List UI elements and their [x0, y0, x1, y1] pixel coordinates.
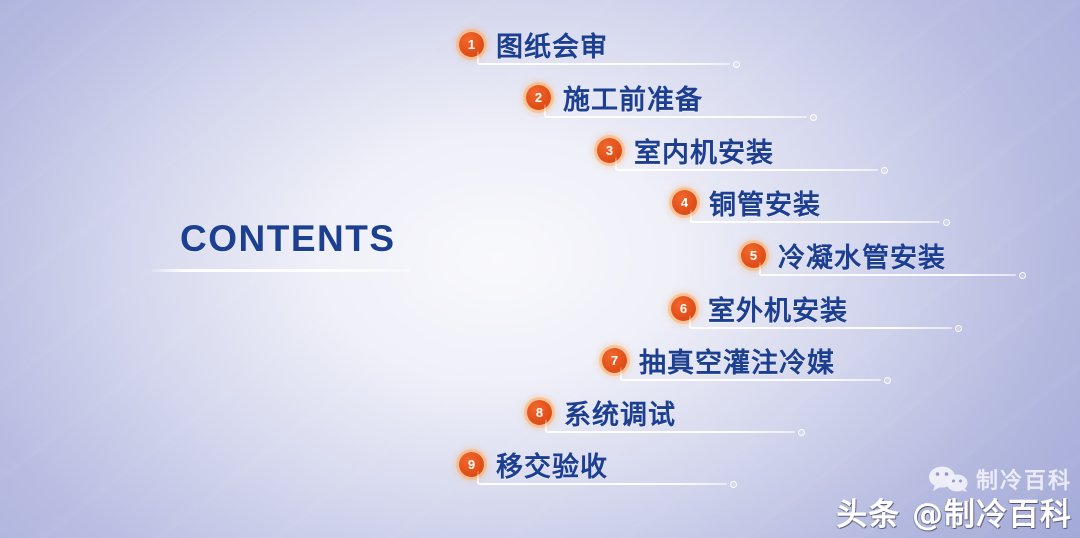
toc-item-label: 室内机安装: [634, 131, 774, 170]
toc-item-8[interactable]: 8 系统调试: [527, 393, 676, 432]
toc-item-label: 冷凝水管安装: [778, 236, 946, 275]
toc-number-badge: 3: [597, 138, 622, 163]
toc-item-1[interactable]: 1 图纸会审: [459, 25, 608, 64]
toc-number-badge: 9: [459, 452, 484, 477]
connector-end-dot: [798, 429, 805, 436]
toc-item-label: 图纸会审: [496, 25, 608, 64]
connector-end-dot: [955, 325, 962, 332]
connector-end-dot: [730, 481, 737, 488]
connector-end-dot: [884, 377, 891, 384]
toc-item-label: 系统调试: [564, 393, 676, 432]
slide-canvas: CONTENTS 1 图纸会审 2 施工前准备 3 室内机安装 4: [0, 0, 1080, 538]
toc-item-2[interactable]: 2 施工前准备: [526, 78, 703, 117]
toc-number-badge: 1: [459, 32, 484, 57]
toc-item-5[interactable]: 5 冷凝水管安装: [741, 236, 946, 275]
connector-end-dot: [733, 61, 740, 68]
toc-item-label: 室外机安装: [708, 289, 848, 328]
toc-item-label: 移交验收: [496, 445, 608, 484]
connector-end-dot: [943, 219, 950, 226]
toc-item-9[interactable]: 9 移交验收: [459, 445, 608, 484]
watermark: 制冷百科 头条 @制冷百科: [836, 463, 1072, 534]
toc-number-badge: 8: [527, 400, 552, 425]
toc-item-3[interactable]: 3 室内机安装: [597, 131, 774, 170]
connector-end-dot: [810, 114, 817, 121]
connector-end-dot: [1019, 272, 1026, 279]
watermark-handle: 头条 @制冷百科: [836, 489, 1072, 534]
watermark-brand-row: 制冷百科: [836, 463, 1072, 495]
toc-item-6[interactable]: 6 室外机安装: [671, 289, 848, 328]
toc-number-badge: 6: [671, 296, 696, 321]
toc-item-7[interactable]: 7 抽真空灌注冷媒: [602, 341, 835, 380]
toc-item-4[interactable]: 4 铜管安装: [672, 183, 821, 222]
watermark-brand-label: 制冷百科: [976, 463, 1072, 495]
wechat-icon: [928, 466, 970, 492]
toc-number-badge: 5: [741, 243, 766, 268]
page-title: CONTENTS: [152, 220, 422, 257]
toc-number-badge: 7: [602, 348, 627, 373]
toc-number-badge: 2: [526, 85, 551, 110]
toc-number-badge: 4: [672, 190, 697, 215]
contents-heading-block: CONTENTS: [152, 220, 422, 272]
toc-item-label: 施工前准备: [563, 78, 703, 117]
connector-end-dot: [881, 167, 888, 174]
toc-item-label: 抽真空灌注冷媒: [639, 341, 835, 380]
title-underline: [152, 269, 410, 272]
toc-item-label: 铜管安装: [709, 183, 821, 222]
